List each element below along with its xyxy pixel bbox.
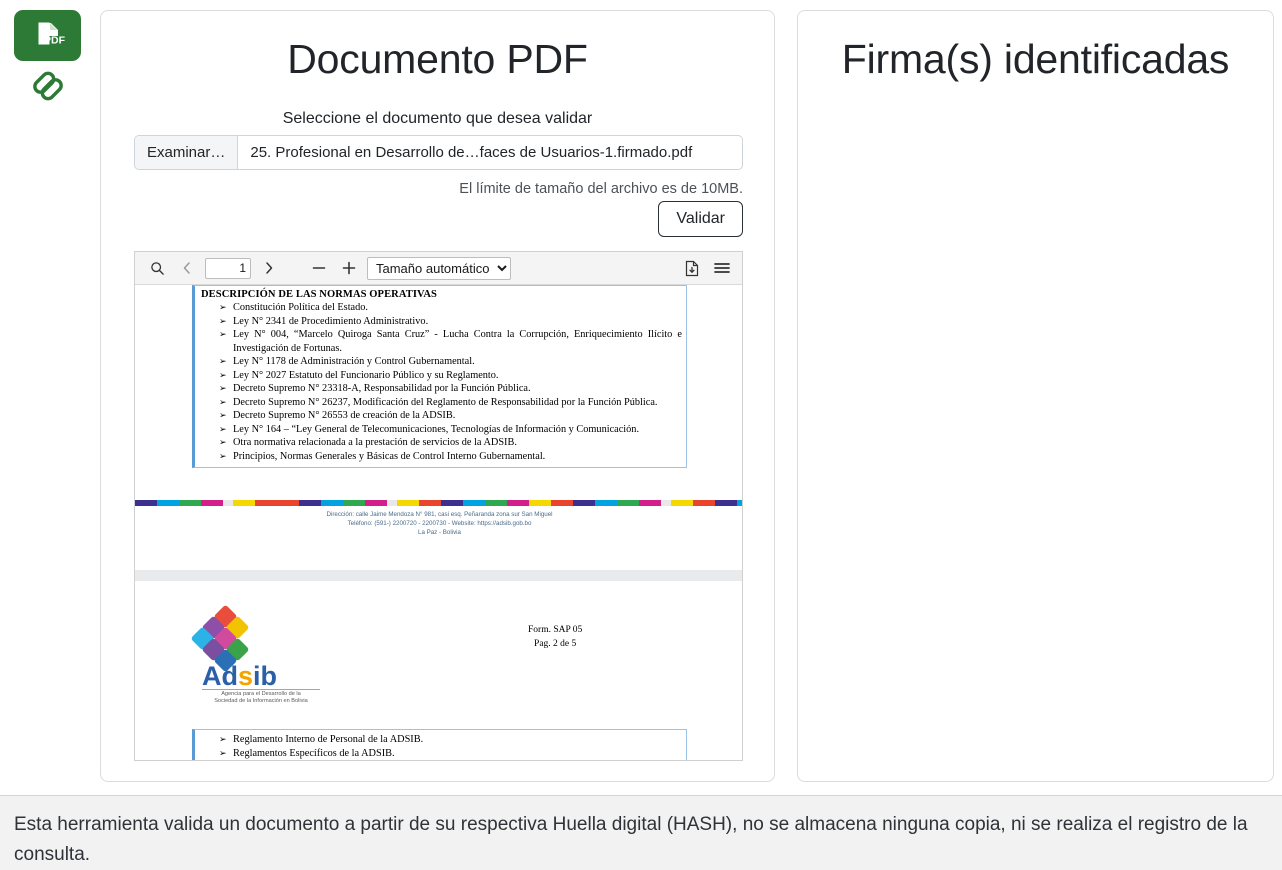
document-heading: DESCRIPCIÓN DE LAS NORMAS OPERATIVAS: [201, 289, 682, 300]
color-bar-segment: [365, 500, 387, 506]
adsib-logo-text: Adsib Agencia para el Desarrollo de la S…: [202, 663, 320, 705]
pdf-page-separator: [135, 570, 742, 581]
color-bar-segment: [397, 500, 419, 506]
color-bar-segment: [617, 500, 639, 506]
color-bar-segment: [661, 500, 671, 506]
color-bar-segment: [441, 500, 463, 506]
chain-link-icon[interactable]: [28, 66, 68, 106]
document-form-meta: Form. SAP 05 Pag. 2 de 5: [528, 609, 582, 651]
color-bar-segment: [715, 500, 737, 506]
document-list-item: Ley N° 164 – “Ley General de Telecomunic…: [219, 423, 682, 437]
disclaimer-banner: Esta herramienta valida un documento a p…: [0, 795, 1282, 870]
pdf-toolbar-right: [680, 257, 734, 279]
document-list-item: Decreto Supremo N° 26553 de creación de …: [219, 409, 682, 423]
document-list-item: Ley N° 2027 Estatuto del Funcionario Púb…: [219, 369, 682, 383]
chevron-left-glyph: [181, 261, 193, 275]
document-list-item: Otra normativa relacionada a la prestaci…: [219, 436, 682, 450]
adsib-logo: Adsib Agencia para el Desarrollo de la S…: [198, 609, 358, 705]
zoom-out-glyph: [311, 260, 327, 276]
zoom-in-glyph: [341, 260, 357, 276]
document-list-item: Constitución Política del Estado.: [219, 301, 682, 315]
adsib-tagline: Agencia para el Desarrollo de la Socieda…: [202, 689, 320, 705]
color-bar-segment: [343, 500, 365, 506]
color-bar-segment: [507, 500, 529, 506]
plus-icon[interactable]: [337, 257, 361, 279]
save-glyph: [684, 260, 700, 277]
pdf-page-1: DESCRIPCIÓN DE LAS NORMAS OPERATIVAS Con…: [135, 285, 742, 570]
document-list-item: Ley N° 004, “Marcelo Quiroga Santa Cruz”…: [219, 328, 682, 355]
decorative-color-bar: [135, 500, 742, 506]
color-bar-segment: [179, 500, 201, 506]
color-bar-segment: [529, 500, 551, 506]
chevron-right-glyph: [263, 261, 275, 275]
browse-button[interactable]: Examinar…: [135, 136, 238, 169]
color-bar-segment: [157, 500, 179, 506]
color-bar-segment: [671, 500, 693, 506]
pdf-page-2: Adsib Agencia para el Desarrollo de la S…: [135, 581, 742, 761]
disclaimer-text: Esta herramienta valida un documento a p…: [14, 810, 1268, 870]
footer-line-2: Teléfono: (591-) 2200720 - 2200730 - Web…: [135, 519, 742, 528]
document-logo-row: Adsib Agencia para el Desarrollo de la S…: [135, 581, 742, 705]
color-bar-segment: [201, 500, 223, 506]
chevron-right-icon[interactable]: [257, 257, 281, 279]
color-bar-segment: [595, 500, 617, 506]
adsib-logo-mark: [198, 609, 254, 663]
document-footer-address: Dirección: calle Jaime Mendoza N° 981, c…: [135, 506, 742, 537]
file-size-note: El límite de tamaño del archivo es de 10…: [134, 181, 743, 197]
color-bar-segment: [255, 500, 277, 506]
menu-glyph: [713, 261, 731, 275]
signatures-panel: Firma(s) identificadas: [797, 10, 1274, 782]
footer-line-3: La Paz - Bolivia: [135, 528, 742, 537]
form-code: Form. SAP 05: [528, 623, 582, 637]
document-list-item: Decreto Supremo N° 23318-A, Responsabili…: [219, 382, 682, 396]
document-panel: Documento PDF Seleccione el documento qu…: [100, 10, 775, 782]
svg-text:PDF: PDF: [44, 34, 66, 46]
color-bar-segment: [573, 500, 595, 506]
validate-button-wrap: Validar: [134, 201, 743, 237]
selected-file-name: 25. Profesional en Desarrollo de…faces d…: [238, 136, 742, 169]
pdf-toolbar: Tamaño automático: [135, 252, 742, 285]
document-list-item: Reglamentos Específicos de la ADSIB.: [219, 747, 682, 761]
pdf-viewer[interactable]: Tamaño automático: [134, 251, 743, 761]
minus-icon[interactable]: [307, 257, 331, 279]
panel-subtitle: Seleccione el documento que desea valida…: [101, 82, 774, 128]
document-list-item: Ley N° 1178 de Administración y Control …: [219, 355, 682, 369]
document-list-item: Ley N° 2341 de Procedimiento Administrat…: [219, 315, 682, 329]
document-text-block-2: Reglamento Interno de Personal de la ADS…: [192, 729, 687, 761]
color-bar-segment: [277, 500, 299, 506]
adsib-tagline-2: Sociedad de la Información en Bolivia: [202, 698, 320, 705]
chain-link-glyph: [28, 66, 68, 106]
color-bar-segment: [223, 500, 233, 506]
validate-button[interactable]: Validar: [658, 201, 743, 237]
color-bar-segment: [737, 500, 742, 506]
left-icon-rail: PDF: [0, 0, 96, 795]
document-list-item: Decreto Supremo N° 26237, Modificación d…: [219, 396, 682, 410]
document-list-item: Principios, Normas Generales y Básicas d…: [219, 450, 682, 464]
color-bar-segment: [551, 500, 573, 506]
color-bar-segment: [299, 500, 321, 506]
signatures-title: Firma(s) identificadas: [798, 11, 1273, 82]
hamburger-menu-icon[interactable]: [710, 257, 734, 279]
pdf-scroll-area[interactable]: DESCRIPCIÓN DE LAS NORMAS OPERATIVAS Con…: [135, 285, 742, 761]
pdf-file-icon[interactable]: PDF: [14, 10, 81, 61]
search-icon[interactable]: [145, 257, 169, 279]
page-label: Pag. 2 de 5: [528, 637, 582, 651]
color-bar-segment: [135, 500, 157, 506]
chevron-left-icon[interactable]: [175, 257, 199, 279]
document-text-block: DESCRIPCIÓN DE LAS NORMAS OPERATIVAS Con…: [192, 285, 687, 468]
adsib-tagline-1: Agencia para el Desarrollo de la: [202, 691, 320, 698]
color-bar-segment: [463, 500, 485, 506]
color-bar-segment: [387, 500, 397, 506]
color-bar-segment: [693, 500, 715, 506]
save-document-icon[interactable]: [680, 257, 704, 279]
color-bar-segment: [639, 500, 661, 506]
page-title: Documento PDF: [101, 11, 774, 82]
page-number-input[interactable]: [205, 258, 251, 279]
zoom-level-select[interactable]: Tamaño automático: [367, 257, 511, 280]
color-bar-segment: [485, 500, 507, 506]
search-glyph: [150, 261, 165, 276]
pdf-glyph: PDF: [30, 18, 66, 54]
color-bar-segment: [233, 500, 255, 506]
color-bar-segment: [419, 500, 441, 506]
color-bar-segment: [321, 500, 343, 506]
file-input-row[interactable]: Examinar… 25. Profesional en Desarrollo …: [134, 135, 743, 170]
page-root: PDF Documento PDF Seleccione el document…: [0, 0, 1282, 870]
footer-line-1: Dirección: calle Jaime Mendoza N° 981, c…: [135, 510, 742, 519]
document-list-item: Reglamento Interno de Personal de la ADS…: [219, 733, 682, 747]
